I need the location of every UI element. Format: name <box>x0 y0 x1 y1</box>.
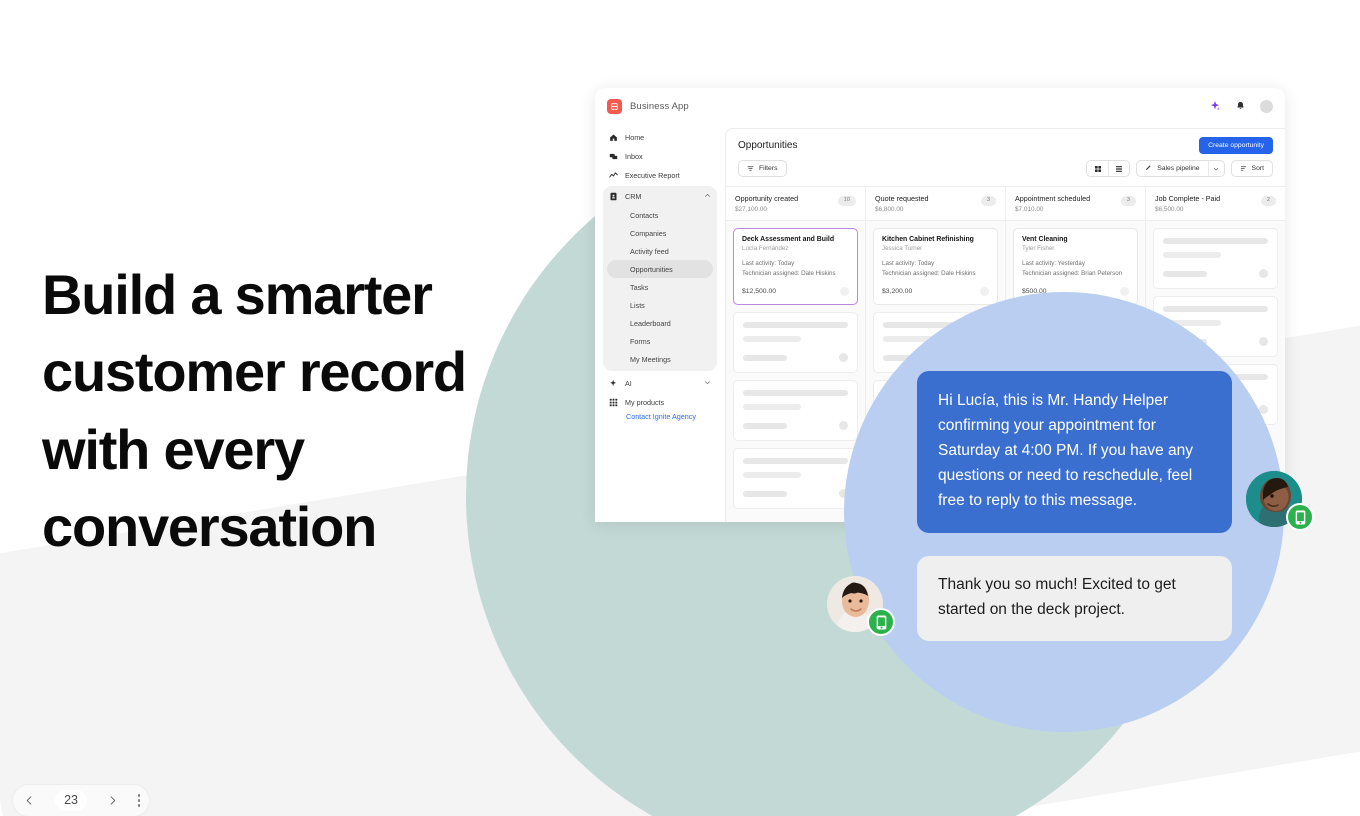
column-header: Appointment scheduled $7,010.00 3 <box>1006 187 1145 221</box>
inbox-icon <box>609 152 618 161</box>
card-person: Tyler Fisher <box>1022 245 1129 252</box>
create-opportunity-button[interactable]: Create opportunity <box>1199 137 1273 154</box>
sidebar-item-activity-feed-label: Activity feed <box>630 247 669 256</box>
sort-button[interactable]: Sort <box>1231 160 1273 177</box>
column-header: Quote requested $6,800.00 3 <box>866 187 1005 221</box>
card-last-activity: Last activity: Today <box>742 259 849 269</box>
pagination-control: 23 <box>12 784 150 816</box>
opportunity-card[interactable]: Deck Assessment and Build Lucía Fernánde… <box>733 228 858 305</box>
skeleton-card <box>1153 228 1278 289</box>
panel-header: Opportunities Create opportunity <box>726 129 1285 160</box>
app-topbar: Business App <box>595 88 1285 124</box>
sidebar-item-inbox[interactable]: Inbox <box>603 147 717 166</box>
sidebar-item-companies-label: Companies <box>630 229 666 238</box>
brand: Business App <box>607 99 689 114</box>
page-number[interactable]: 23 <box>55 790 87 811</box>
column-header: Job Complete - Paid $6,500.00 2 <box>1146 187 1285 221</box>
column-amount: $27,100.00 <box>735 206 798 213</box>
column-count-badge: 10 <box>838 196 856 206</box>
sidebar-group-crm: CRM Contacts Companies Activity feed Opp… <box>603 186 717 371</box>
pipeline-selector-left[interactable]: Sales pipeline <box>1137 161 1207 176</box>
filters-label: Filters <box>759 165 778 172</box>
column-amount: $7,010.00 <box>1015 206 1090 213</box>
card-title: Deck Assessment and Build <box>742 236 849 243</box>
sms-phone-icon <box>1286 503 1314 531</box>
skeleton-card <box>733 448 858 509</box>
chevron-up-icon <box>704 192 711 201</box>
sort-icon <box>1240 165 1247 172</box>
sidebar-item-inbox-label: Inbox <box>625 152 643 161</box>
card-avatar <box>980 287 989 296</box>
card-avatar <box>1120 287 1129 296</box>
sidebar-item-executive-report-label: Executive Report <box>625 171 680 180</box>
sort-label: Sort <box>1252 165 1264 172</box>
chevron-down-icon <box>704 379 711 388</box>
panel-toolbar: Filters <box>726 160 1285 186</box>
filters-button[interactable]: Filters <box>738 160 787 177</box>
panel-title: Opportunities <box>738 140 797 151</box>
card-technician: Technician assigned: Dale Hiskins <box>882 269 989 279</box>
column-amount: $6,500.00 <box>1155 206 1220 213</box>
column-count-badge: 2 <box>1261 196 1276 206</box>
sidebar-item-lists[interactable]: Lists <box>607 296 713 314</box>
pipeline-label: Sales pipeline <box>1157 165 1199 172</box>
chevron-down-icon[interactable] <box>1208 161 1224 176</box>
card-last-activity: Last activity: Yesterday <box>1022 259 1129 269</box>
app-logo-icon <box>607 99 622 114</box>
sidebar-item-forms-label: Forms <box>630 337 650 346</box>
column-count-badge: 3 <box>981 196 996 206</box>
card-amount: $3,200.00 <box>882 288 912 295</box>
sidebar-item-crm[interactable]: CRM <box>603 187 717 206</box>
pencil-icon <box>1145 164 1152 173</box>
agent-avatar <box>1246 471 1302 527</box>
sidebar-item-opportunities[interactable]: Opportunities <box>607 260 713 278</box>
sidebar-item-my-meetings[interactable]: My Meetings <box>607 350 713 368</box>
card-avatar <box>840 287 849 296</box>
sidebar-item-crm-label: CRM <box>625 192 641 201</box>
grid-view-icon[interactable] <box>1087 161 1108 176</box>
sidebar-item-contacts[interactable]: Contacts <box>607 206 713 224</box>
list-view-icon[interactable] <box>1108 161 1129 176</box>
kanban-column: Opportunity created $27,100.00 10 Deck A… <box>726 187 866 522</box>
user-avatar[interactable] <box>1260 100 1273 113</box>
card-title: Vent Cleaning <box>1022 236 1129 243</box>
column-cards: Deck Assessment and Build Lucía Fernánde… <box>726 221 865 522</box>
sidebar-item-tasks[interactable]: Tasks <box>607 278 713 296</box>
sidebar-item-ai[interactable]: AI <box>603 374 717 393</box>
slide-canvas: Build a smarter customer record with eve… <box>0 0 1360 816</box>
chevron-right-icon[interactable] <box>104 795 120 806</box>
chat-bubble-customer: Thank you so much! Excited to get starte… <box>917 556 1232 641</box>
column-count-badge: 3 <box>1121 196 1136 206</box>
sidebar-item-opportunities-label: Opportunities <box>630 265 673 274</box>
sidebar-item-executive-report[interactable]: Executive Report <box>603 166 717 185</box>
view-toggle-group <box>1086 160 1130 177</box>
column-name: Job Complete - Paid <box>1155 194 1220 203</box>
card-technician: Technician assigned: Dale Hiskins <box>742 269 849 279</box>
skeleton-card <box>733 312 858 373</box>
column-name: Opportunity created <box>735 194 798 203</box>
sidebar-item-home[interactable]: Home <box>603 128 717 147</box>
sparkle-icon <box>609 379 618 388</box>
card-amount: $12,500.00 <box>742 288 776 295</box>
column-header: Opportunity created $27,100.00 10 <box>726 187 865 221</box>
column-amount: $6,800.00 <box>875 206 929 213</box>
home-icon <box>609 133 618 142</box>
contact-agency-link[interactable]: Contact Ignite Agency <box>603 404 696 421</box>
sidebar-item-leaderboard[interactable]: Leaderboard <box>607 314 713 332</box>
contact-card-icon <box>609 192 618 201</box>
sidebar-item-companies[interactable]: Companies <box>607 224 713 242</box>
opportunity-card[interactable]: Kitchen Cabinet Refinishing Jessica Turn… <box>873 228 998 305</box>
sidebar-item-activity-feed[interactable]: Activity feed <box>607 242 713 260</box>
card-last-activity: Last activity: Today <box>882 259 989 269</box>
sparkle-ai-icon[interactable] <box>1209 100 1221 112</box>
sidebar-item-lists-label: Lists <box>630 301 645 310</box>
sidebar-item-forms[interactable]: Forms <box>607 332 713 350</box>
sidebar-item-my-meetings-label: My Meetings <box>630 355 671 364</box>
pipeline-selector[interactable]: Sales pipeline <box>1136 160 1224 177</box>
chat-bubble-agent: Hi Lucía, this is Mr. Handy Helper confi… <box>917 371 1232 533</box>
page-title: Build a smarter customer record with eve… <box>42 256 542 565</box>
kebab-menu-icon[interactable] <box>138 794 141 807</box>
card-person: Jessica Turner <box>882 245 989 252</box>
sidebar-item-leaderboard-label: Leaderboard <box>630 319 671 328</box>
customer-avatar <box>827 576 883 632</box>
chevron-left-icon[interactable] <box>22 795 38 806</box>
card-title: Kitchen Cabinet Refinishing <box>882 236 989 243</box>
column-name: Quote requested <box>875 194 929 203</box>
bell-icon[interactable] <box>1235 100 1246 112</box>
card-person: Lucía Fernández <box>742 245 849 252</box>
chart-line-icon <box>609 171 618 180</box>
brand-name: Business App <box>630 101 689 112</box>
sidebar-item-ai-label: AI <box>625 379 632 388</box>
sidebar: Home Inbox Executive Report <box>595 124 725 522</box>
topbar-actions <box>1209 100 1273 113</box>
skeleton-card <box>733 380 858 441</box>
sidebar-item-tasks-label: Tasks <box>630 283 648 292</box>
card-technician: Technician assigned: Brian Peterson <box>1022 269 1129 279</box>
sidebar-item-home-label: Home <box>625 133 644 142</box>
column-name: Appointment scheduled <box>1015 194 1090 203</box>
sms-phone-icon <box>867 608 895 636</box>
filter-icon <box>747 165 754 172</box>
sidebar-item-contacts-label: Contacts <box>630 211 658 220</box>
